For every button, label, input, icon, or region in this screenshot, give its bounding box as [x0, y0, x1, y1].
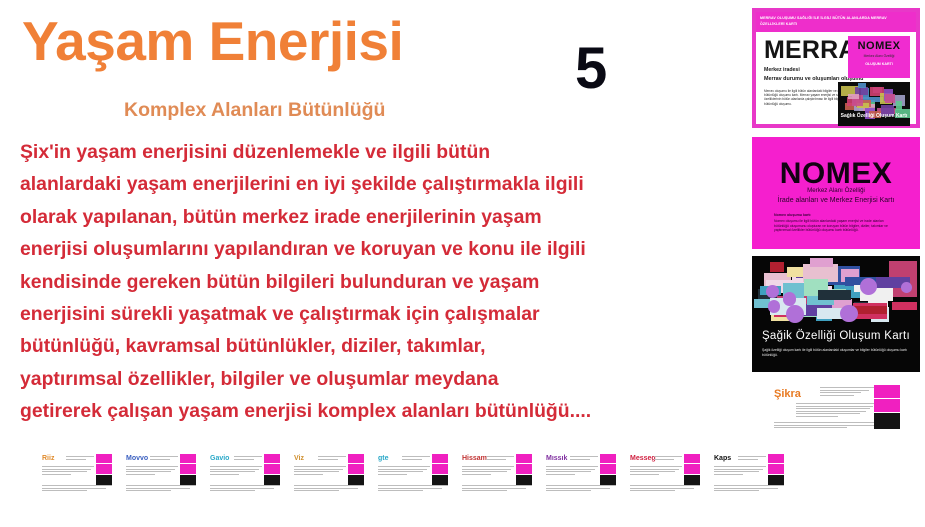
text-rule	[294, 490, 339, 491]
text-rule	[378, 474, 407, 475]
thumbnail-block	[768, 475, 784, 485]
thumbnail-block	[516, 475, 532, 485]
text-rule	[150, 456, 178, 457]
card-sagik-body: Şağik özelliği oluşum kartı ile ilgili b…	[762, 348, 912, 357]
text-rule	[546, 490, 591, 491]
text-rule	[42, 471, 87, 472]
thumbnail-block	[600, 464, 616, 474]
text-rule	[462, 466, 514, 467]
text-rule	[402, 459, 422, 460]
thumbnail-bottom-lines	[42, 485, 112, 493]
card-nomex-subtitle-1: Merkez Alanı Özelliği	[752, 187, 920, 194]
card-thumb-block	[874, 385, 900, 398]
text-rule	[210, 485, 280, 486]
text-rule	[714, 488, 778, 489]
text-rule	[234, 459, 254, 460]
thumbnail-bottom-lines	[378, 485, 448, 493]
list-item[interactable]: gte	[376, 452, 450, 498]
text-rule	[486, 459, 506, 460]
thumbnail-top-lines	[738, 456, 766, 461]
thumbnail-bottom-lines	[294, 485, 364, 493]
thumbnail-block	[684, 464, 700, 474]
thumbnail-mid-lines	[210, 466, 262, 476]
text-rule	[42, 490, 87, 491]
thumbnail-block	[96, 475, 112, 485]
text-rule	[210, 469, 259, 470]
text-rule	[714, 490, 759, 491]
text-rule	[126, 474, 155, 475]
text-rule	[234, 456, 262, 457]
text-rule	[486, 456, 514, 457]
collage-dot	[766, 285, 779, 298]
text-rule	[738, 456, 766, 457]
thumbnail-block	[180, 454, 196, 463]
thumbnail-top-lines	[150, 456, 178, 461]
text-rule	[210, 490, 255, 491]
thumbnail-image-blocks	[348, 454, 364, 484]
body-line: olarak yapılanan, bütün merkez irade ene…	[20, 201, 740, 233]
thumbnail-image-blocks	[96, 454, 112, 484]
card-merrav-collage-caption: Sağlık Özelliği Oluşum Kartı	[838, 113, 910, 119]
thumbnail-block	[600, 454, 616, 463]
text-rule	[210, 466, 262, 467]
text-rule	[714, 474, 743, 475]
text-rule	[210, 474, 239, 475]
content-column: Yaşam Enerjisi 5 Komplex Alanları Bütünl…	[0, 0, 745, 440]
text-rule	[546, 471, 591, 472]
collage-tile	[848, 94, 859, 100]
thumbnail-block	[432, 475, 448, 485]
list-item[interactable]: Riiz	[40, 452, 114, 498]
text-rule	[42, 466, 94, 467]
collage-tile	[770, 262, 784, 272]
thumbnail-block	[264, 454, 280, 463]
text-rule	[126, 488, 190, 489]
text-rule	[378, 469, 427, 470]
thumbnail-title: Gavio	[210, 455, 229, 462]
text-rule	[42, 488, 106, 489]
body-line: enerjisini sürekli yaşatmak ve çalıştırm…	[20, 298, 740, 330]
thumbnail-strip: RiizMovvoGavioVizgteHissamMıssıkMessegKa…	[40, 452, 800, 504]
text-rule	[546, 474, 575, 475]
page-title: Yaşam Enerjisi	[22, 14, 403, 69]
page-subtitle: Komplex Alanları Bütünlüğü	[124, 99, 385, 122]
thumbnail-top-lines	[66, 456, 94, 461]
text-rule	[774, 427, 847, 428]
slide-canvas: Yaşam Enerjisi 5 Komplex Alanları Bütünl…	[0, 0, 925, 527]
card-nomex-body: Nomex oluşumu ile ilgili bütün alanlarda…	[774, 219, 898, 233]
text-rule	[654, 459, 674, 460]
text-rule	[126, 490, 171, 491]
thumbnail-bottom-lines	[126, 485, 196, 493]
body-line: enerjisi oluşumlarını yapılandıran ve ko…	[20, 233, 740, 265]
body-line: yaptırımsal özellikler, bilgiler ve oluş…	[20, 363, 740, 395]
text-rule	[796, 406, 873, 407]
collage-dot	[840, 305, 858, 323]
thumbnail-top-lines	[234, 456, 262, 461]
thumbnail-bottom-lines	[630, 485, 700, 493]
card-nomex[interactable]: NOMEX Merkez Alanı Özelliği İrade alanla…	[752, 137, 920, 249]
text-rule	[630, 485, 700, 486]
card-sagik-title: Şağik Özelliği Oluşum Kartı	[752, 330, 920, 342]
text-rule	[378, 488, 442, 489]
collage-tile	[810, 258, 832, 267]
text-rule	[546, 485, 616, 486]
thumbnail-block	[348, 464, 364, 474]
text-rule	[378, 466, 430, 467]
text-rule	[378, 490, 423, 491]
thumbnail-mid-lines	[714, 466, 766, 476]
text-rule	[42, 469, 91, 470]
thumbnail-block	[684, 454, 700, 463]
text-rule	[42, 485, 112, 486]
text-rule	[630, 490, 675, 491]
collage-dot	[783, 292, 797, 306]
text-rule	[462, 490, 507, 491]
thumbnail-title: Hissam	[462, 455, 487, 462]
text-rule	[294, 466, 346, 467]
text-rule	[796, 403, 876, 404]
collage-tile	[858, 83, 866, 87]
card-merrav[interactable]: MERRAV OLUŞUMU SAĞLIĞI İLE İLGİLİ BÜTÜN …	[752, 8, 920, 128]
card-sikra-text-lines-mid	[796, 403, 876, 419]
text-rule	[66, 459, 86, 460]
text-rule	[714, 466, 766, 467]
thumbnail-top-lines	[570, 456, 598, 461]
thumbnail-block	[684, 475, 700, 485]
card-merrav-subtitle-1: Merkez iradesi	[764, 67, 800, 73]
text-rule	[796, 411, 866, 412]
body-line: kendisinde gereken bütün bilgileri bulun…	[20, 266, 740, 298]
thumbnail-block	[516, 464, 532, 474]
thumbnail-mid-lines	[294, 466, 346, 476]
text-rule	[462, 474, 491, 475]
text-rule	[630, 488, 694, 489]
text-rule	[820, 390, 869, 391]
card-sagik-collage-image	[752, 258, 920, 324]
thumbnail-title: Viz	[294, 455, 304, 462]
list-item[interactable]: Hissam	[460, 452, 534, 498]
thumbnail-top-lines	[486, 456, 514, 461]
thumbnail-block	[600, 475, 616, 485]
thumbnail-image-blocks	[600, 454, 616, 484]
text-rule	[714, 471, 759, 472]
thumbnail-block	[768, 464, 784, 474]
thumbnail-image-blocks	[768, 454, 784, 484]
thumbnail-image-blocks	[516, 454, 532, 484]
text-rule	[294, 488, 358, 489]
list-item[interactable]: Viz	[292, 452, 366, 498]
text-rule	[796, 413, 860, 414]
text-rule	[462, 485, 532, 486]
body-line: getirerek çalışan yaşam enerjisi komplex…	[20, 395, 740, 427]
thumbnail-block	[96, 454, 112, 463]
thumbnail-block	[180, 464, 196, 474]
list-item[interactable]: Messeg	[628, 452, 702, 498]
text-rule	[42, 474, 71, 475]
text-rule	[630, 469, 679, 470]
text-rule	[210, 471, 255, 472]
text-rule	[630, 474, 659, 475]
text-rule	[546, 488, 610, 489]
text-rule	[318, 459, 338, 460]
thumbnail-bottom-lines	[210, 485, 280, 493]
text-rule	[630, 471, 675, 472]
text-rule	[402, 456, 430, 457]
thumbnail-image-blocks	[432, 454, 448, 484]
thumbnail-title: gte	[378, 455, 389, 462]
card-sikra-image-blocks	[874, 385, 900, 429]
text-rule	[820, 395, 854, 396]
text-rule	[462, 488, 526, 489]
body-paragraph: Şix'in yaşam enerjisini düzenlemekle ve …	[20, 136, 740, 428]
thumbnail-image-blocks	[684, 454, 700, 484]
body-line: bütünlüğü, kavramsal bütünlükler, dizile…	[20, 330, 740, 362]
card-merrav-collage-image: Sağlık Özelliği Oluşum Kartı	[838, 82, 910, 126]
nomex-badge-title: NOMEX	[848, 40, 910, 52]
thumbnail-block	[348, 454, 364, 463]
card-sikra[interactable]: Şikra	[772, 382, 902, 440]
nomex-badge-subtitle-2: OLUŞUM KARTI	[848, 62, 910, 66]
text-rule	[126, 485, 196, 486]
text-rule	[820, 387, 874, 388]
thumbnail-bottom-lines	[546, 485, 616, 493]
list-item[interactable]: Mıssık	[544, 452, 618, 498]
text-rule	[294, 485, 364, 486]
card-sikra-text-lines-top	[820, 387, 876, 397]
thumbnail-bottom-lines	[714, 485, 784, 493]
body-line: alanlardaki yaşam enerjilerini en iyi şe…	[20, 168, 740, 200]
card-nomex-title: NOMEX	[752, 157, 920, 191]
text-rule	[294, 471, 339, 472]
thumbnail-block	[516, 454, 532, 463]
thumbnail-block	[768, 454, 784, 463]
collage-dot	[901, 282, 912, 293]
thumbnail-mid-lines	[630, 466, 682, 476]
collage-dot	[786, 305, 804, 323]
text-rule	[378, 485, 448, 486]
text-rule	[126, 466, 178, 467]
text-rule	[294, 474, 323, 475]
thumbnail-top-lines	[654, 456, 682, 461]
thumbnail-mid-lines	[462, 466, 514, 476]
text-rule	[318, 456, 346, 457]
thumbnail-top-lines	[318, 456, 346, 461]
text-rule	[462, 471, 507, 472]
card-thumb-block	[874, 413, 900, 429]
card-column: MERRAV OLUŞUMU SAĞLIĞI İLE İLGİLİ BÜTÜN …	[748, 0, 925, 527]
collage-tile	[818, 290, 851, 300]
thumbnail-mid-lines	[546, 466, 598, 476]
thumbnail-title: Riiz	[42, 455, 54, 462]
card-sagik[interactable]: Şağik Özelliği Oluşum Kartı Şağik özelli…	[752, 256, 920, 372]
thumbnail-block	[264, 475, 280, 485]
thumbnail-block	[180, 475, 196, 485]
thumbnail-block	[432, 454, 448, 463]
text-rule	[66, 456, 94, 457]
collage-tile	[885, 94, 895, 102]
thumbnail-image-blocks	[264, 454, 280, 484]
nomex-badge-subtitle: Merkez Alanı Özelliği	[848, 54, 910, 59]
text-rule	[462, 469, 511, 470]
text-rule	[126, 469, 175, 470]
thumbnail-block	[96, 464, 112, 474]
text-rule	[126, 471, 171, 472]
text-rule	[796, 408, 870, 409]
list-item[interactable]: Kaps	[712, 452, 786, 498]
text-rule	[378, 471, 423, 472]
collage-tile	[896, 101, 903, 111]
thumbnail-block	[432, 464, 448, 474]
thumbnail-mid-lines	[42, 466, 94, 476]
slide-number: 5	[575, 40, 607, 98]
text-rule	[714, 469, 763, 470]
collage-tile	[892, 302, 917, 311]
text-rule	[150, 459, 170, 460]
text-rule	[570, 456, 598, 457]
thumbnail-block	[348, 475, 364, 485]
thumbnail-title: Movvo	[126, 455, 148, 462]
card-merrav-nomex-badge: NOMEX Merkez Alanı Özelliği OLUŞUM KARTI	[848, 36, 910, 78]
text-rule	[630, 466, 682, 467]
text-rule	[546, 469, 595, 470]
thumbnail-top-lines	[402, 456, 430, 461]
thumbnail-mid-lines	[378, 466, 430, 476]
list-item[interactable]: Movvo	[124, 452, 198, 498]
text-rule	[796, 416, 838, 417]
text-rule	[546, 466, 598, 467]
thumbnail-title: Mıssık	[546, 455, 567, 462]
list-item[interactable]: Gavio	[208, 452, 282, 498]
collage-dot	[768, 300, 780, 312]
card-nomex-subtitle-2: İrade alanları ve Merkez Enerjisi Kartı	[752, 197, 920, 204]
text-rule	[210, 488, 274, 489]
card-merrav-header: MERRAV OLUŞUMU SAĞLIĞI İLE İLGİLİ BÜTÜN …	[756, 12, 916, 32]
card-thumb-block	[874, 399, 900, 412]
thumbnail-mid-lines	[126, 466, 178, 476]
thumbnail-block	[264, 464, 280, 474]
card-nomex-small-header: Nomex oluşumu kartı	[774, 213, 811, 217]
thumbnail-image-blocks	[180, 454, 196, 484]
text-rule	[570, 459, 590, 460]
text-rule	[294, 469, 343, 470]
card-sikra-title: Şikra	[774, 388, 801, 400]
body-line: Şix'in yaşam enerjisini düzenlemekle ve …	[20, 136, 740, 168]
text-rule	[820, 392, 861, 393]
text-rule	[714, 485, 784, 486]
thumbnail-bottom-lines	[462, 485, 532, 493]
thumbnail-title: Kaps	[714, 455, 731, 462]
text-rule	[654, 456, 682, 457]
thumbnail-title: Messeg	[630, 455, 656, 462]
text-rule	[738, 459, 758, 460]
